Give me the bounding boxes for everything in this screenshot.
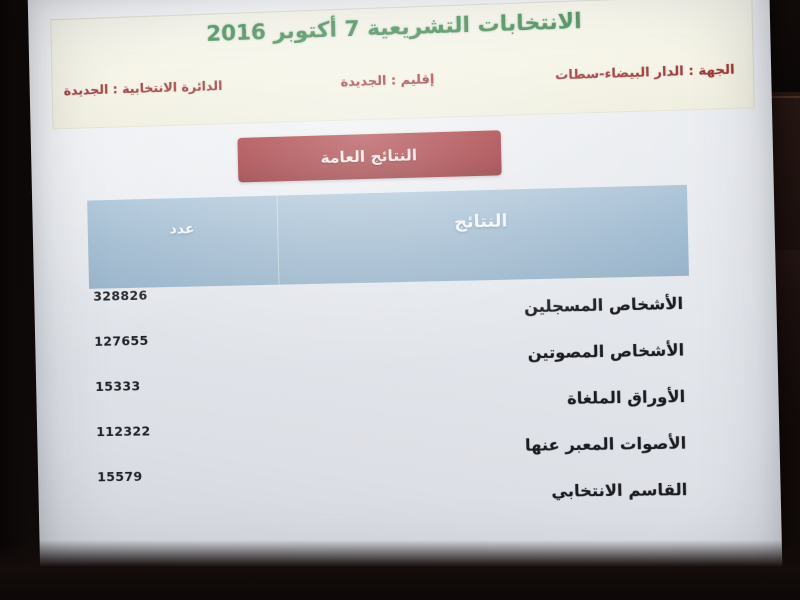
table-row: القاسم الانتخابي15579 <box>93 462 694 515</box>
general-results-banner: النتائج العامة <box>237 130 501 182</box>
results-table-header: النتائج عدد <box>87 185 689 289</box>
table-row-label: القاسم الانتخابي <box>551 481 687 501</box>
table-row-value: 127655 <box>94 333 149 349</box>
column-header-results: النتائج <box>278 185 689 285</box>
table-row-value: 328826 <box>93 288 148 304</box>
presentation-slide: الانتخابات التشريعية 7 أكتوبر 2016 الجهة… <box>28 0 783 580</box>
results-table-body: الأشخاص المسجلين328826الأشخاص المصوتين12… <box>89 276 694 515</box>
table-row-label: الأصوات المعبر عنها <box>525 434 687 455</box>
table-row-value: 112322 <box>96 423 151 439</box>
subtitle-province: إقليم : الجديدة <box>340 71 434 89</box>
table-row-label: الأشخاص المصوتين <box>528 341 685 362</box>
room-background: الانتخابات التشريعية 7 أكتوبر 2016 الجهة… <box>0 0 800 600</box>
column-header-count-label: عدد <box>169 221 195 238</box>
table-row-label: الأشخاص المسجلين <box>524 295 683 317</box>
projection-screen: الانتخابات التشريعية 7 أكتوبر 2016 الجهة… <box>28 0 783 580</box>
column-header-count: عدد <box>87 196 279 289</box>
table-row-value: 15579 <box>97 469 143 485</box>
general-results-banner-label: النتائج العامة <box>320 146 417 167</box>
table-row: الأصوات المعبر عنها112322 <box>92 415 693 469</box>
dark-doorway <box>770 0 800 92</box>
table-row-label: الأوراق الملغاة <box>567 388 686 408</box>
column-header-results-label: النتائج <box>454 211 508 233</box>
table-row-value: 15333 <box>95 378 141 394</box>
